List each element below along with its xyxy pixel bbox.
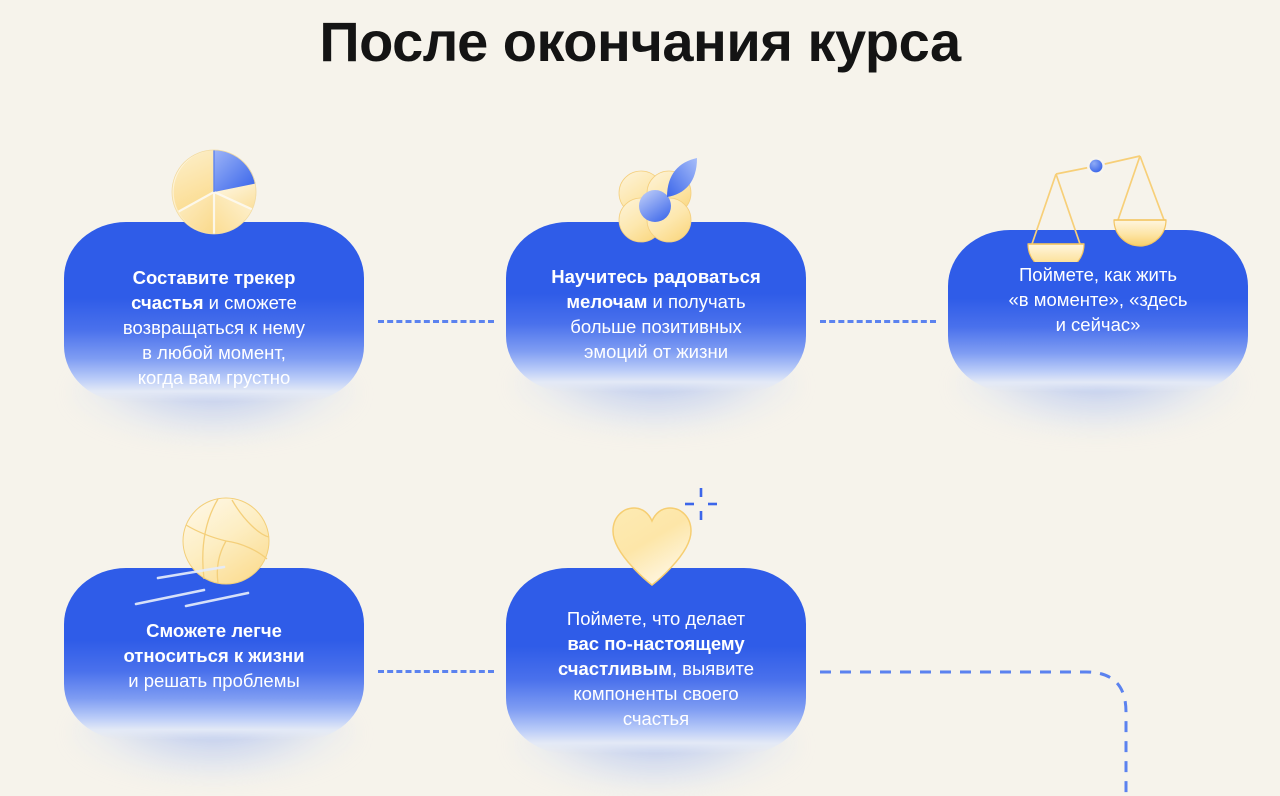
card-3-text: Поймете, как жить«в моменте», «здесьи се… (964, 262, 1232, 337)
sparkle-plus-icon (684, 487, 718, 521)
card-4-text: Сможете легчеотноситься к жизнии решать … (80, 618, 348, 693)
volleyball-icon (182, 497, 270, 590)
infographic-canvas: После окончания курса (0, 0, 1280, 796)
connector-elbow-path (820, 672, 1126, 796)
page-title: После окончания курса (0, 6, 1280, 78)
card-1-text: Составите трекерсчастья и сможетевозвращ… (80, 265, 348, 390)
pie-chart-icon (170, 148, 258, 241)
flower-icon (605, 152, 703, 255)
balance-scales-icon (1018, 152, 1174, 267)
heart-icon (610, 505, 694, 594)
card-5-text: Поймете, что делаетвас по-настоящемусчас… (522, 606, 790, 731)
card-2-text: Научитесь радоватьсямелочам и получатьбо… (522, 264, 790, 364)
